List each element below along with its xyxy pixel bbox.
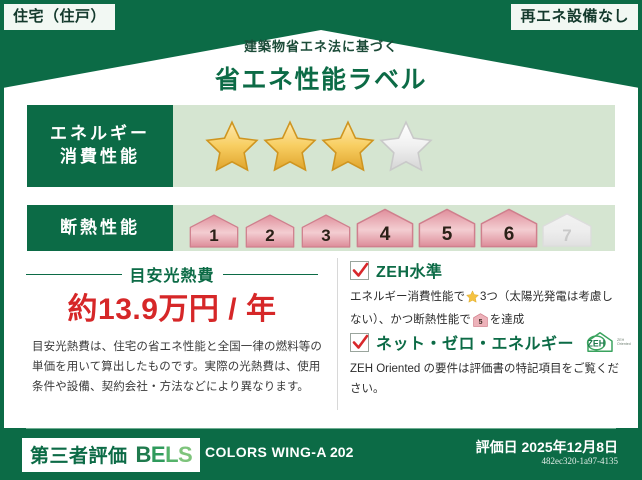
house-filled-icon: 2 xyxy=(243,214,297,248)
star-filled-icon xyxy=(263,119,317,173)
energy-key-line2: 消費性能 xyxy=(60,146,140,169)
cost-amount: 約13.9万円 / 年 xyxy=(26,284,318,328)
svg-text:5: 5 xyxy=(478,319,482,326)
footer-divider xyxy=(26,428,616,429)
bels-letter: E xyxy=(151,442,165,467)
bels-letter: B xyxy=(136,442,151,467)
energy-key-line1: エネルギー xyxy=(50,123,150,146)
net-zero-energy-body: ZEH Oriented の要件は評価書の特記項目をご覧ください。 xyxy=(350,359,622,399)
project-name: COLORS WING-A xyxy=(205,444,327,460)
star-empty-icon xyxy=(379,119,433,173)
house-filled-icon: 5 xyxy=(417,208,477,248)
check-icon xyxy=(352,334,369,351)
cost-heading: 目安光熱費 xyxy=(26,262,318,286)
label-title: 省エネ性能ラベル xyxy=(0,60,642,96)
bels-letter: L xyxy=(165,442,178,467)
star-filled-icon xyxy=(205,119,259,173)
insulation-performance-row: 断熱性能 1234567 xyxy=(26,204,616,252)
unit-number: 202 xyxy=(330,444,353,460)
zeh-house-logo-icon: ZEH xyxy=(584,330,616,354)
house-filled-icon: 4 xyxy=(355,208,415,248)
net-zero-energy-head: ネット・ゼロ・エネルギー ZEH ZEH Oriented xyxy=(350,330,622,354)
checkbox-zeh-standard[interactable] xyxy=(350,261,369,280)
label-subtitle: 建築物省エネ法に基づく xyxy=(0,36,642,55)
insulation-key-text: 断熱性能 xyxy=(60,217,140,240)
net-zero-energy-block: ネット・ゼロ・エネルギー ZEH ZEH Oriented ZEH Orient… xyxy=(350,330,622,399)
star-filled-icon xyxy=(321,119,375,173)
energy-performance-row: エネルギー 消費性能 xyxy=(26,104,616,188)
cost-rule-right xyxy=(223,274,319,275)
house-level-number: 7 xyxy=(562,226,571,246)
check-icon xyxy=(352,262,369,279)
cost-note: 目安光熱費は、住宅の省エネ性能と全国一律の燃料等の単価を用いて算出したものです。… xyxy=(32,337,322,397)
house-level-number: 3 xyxy=(321,226,330,246)
evaluation-date: 評価日 2025年12月8日 xyxy=(476,437,618,457)
title-block: 建築物省エネ法に基づく 省エネ性能ラベル xyxy=(0,36,642,96)
house-level-number: 4 xyxy=(380,224,391,246)
zeh-logo-sub-line2: Oriented xyxy=(617,342,631,346)
cost-rule-left xyxy=(26,274,122,275)
bels-logo: BELS xyxy=(136,442,193,468)
zeh-standard-head: ZEH水準 xyxy=(350,258,622,282)
house-filled-icon: 6 xyxy=(479,208,539,248)
energy-performance-value xyxy=(173,105,615,187)
house-level-number: 1 xyxy=(209,226,218,246)
energy-performance-label: 住宅（住戸） 再エネ設備なし 建築物省エネ法に基づく 省エネ性能ラベル エネルギ… xyxy=(0,0,642,480)
zeh-body-part3: を達成 xyxy=(490,314,525,326)
house-level-number: 2 xyxy=(265,226,274,246)
zeh-standard-block: ZEH水準 エネルギー消費性能で3つ（太陽光発電は考慮しない）、かつ断熱性能で5… xyxy=(350,258,622,334)
zeh-standard-title: ZEH水準 xyxy=(376,258,443,282)
house-filled-icon: 1 xyxy=(187,214,241,248)
zeh-oriented-logo: ZEH ZEH Oriented xyxy=(584,330,631,354)
cost-heading-text: 目安光熱費 xyxy=(130,262,215,286)
evaluation-id: 482ec320-1a97-4135 xyxy=(542,456,618,466)
house-level-number: 5 xyxy=(442,224,453,246)
renewable-equipment-tag: 再エネ設備なし xyxy=(511,4,638,30)
energy-performance-label-key: エネルギー 消費性能 xyxy=(27,105,173,187)
footer: 第三者評価 BELS COLORS WING-A 202 評価日 2025年12… xyxy=(0,428,642,480)
building-type-tag: 住宅（住戸） xyxy=(4,4,115,30)
star-rating xyxy=(173,119,433,173)
house-level-number: 6 xyxy=(504,224,515,246)
house-rating: 1234567 xyxy=(173,208,593,248)
evaluation-date-label: 評価日 xyxy=(476,439,518,455)
insulation-performance-value: 1234567 xyxy=(173,205,615,251)
inline-star-icon xyxy=(466,290,479,310)
insulation-performance-label-key: 断熱性能 xyxy=(27,205,173,251)
bels-badge: 第三者評価 BELS xyxy=(22,438,200,472)
evaluation-date-value: 2025年12月8日 xyxy=(521,439,618,455)
column-divider xyxy=(337,258,338,410)
zeh-body-part1: エネルギー消費性能で xyxy=(350,291,465,303)
third-party-label: 第三者評価 xyxy=(30,441,128,468)
house-empty-icon: 7 xyxy=(541,212,593,248)
checkbox-net-zero-energy[interactable] xyxy=(350,333,369,352)
net-zero-energy-title: ネット・ゼロ・エネルギー xyxy=(376,330,574,354)
house-filled-icon: 3 xyxy=(299,214,353,248)
svg-text:ZEH: ZEH xyxy=(588,339,606,349)
zeh-logo-subtext: ZEH Oriented xyxy=(617,338,631,347)
bels-letter: S xyxy=(178,442,192,467)
zeh-standard-body: エネルギー消費性能で3つ（太陽光発電は考慮しない）、かつ断熱性能で5を達成 xyxy=(350,287,622,334)
